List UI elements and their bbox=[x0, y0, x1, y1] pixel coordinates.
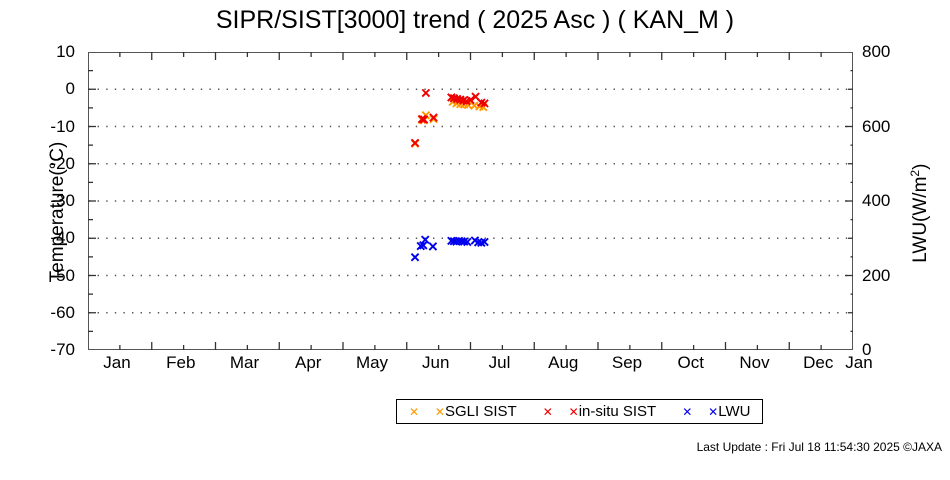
chart-title: SIPR/SIST[3000] trend ( 2025 Asc ) ( KAN… bbox=[0, 6, 950, 35]
y-axis-right-tick-label: 400 bbox=[862, 191, 890, 211]
y-axis-left-tick-label: 10 bbox=[56, 42, 75, 62]
x-axis-tick-label: Apr bbox=[295, 353, 321, 373]
x-axis-tick-label: Oct bbox=[678, 353, 704, 373]
x-axis-tick-label: Feb bbox=[166, 353, 195, 373]
x-axis-tick-label: Aug bbox=[548, 353, 578, 373]
legend-marker-icon: ✕ ✕ bbox=[409, 406, 439, 418]
legend-label: SGLI SIST bbox=[445, 403, 517, 420]
chart-legend: ✕ ✕SGLI SIST✕ ✕in-situ SIST✕ ✕LWU bbox=[396, 399, 763, 424]
footer-last-update: Last Update : Fri Jul 18 11:54:30 2025 ©… bbox=[697, 440, 942, 454]
y-axis-right-title-superscript: 2 bbox=[908, 170, 922, 177]
x-axis-tick-label: Sep bbox=[612, 353, 642, 373]
x-axis-tick-label: Jun bbox=[422, 353, 449, 373]
x-axis-tick-label: Nov bbox=[739, 353, 769, 373]
y-axis-right-tick-label: 200 bbox=[862, 266, 890, 286]
x-axis-tick-label: Dec bbox=[803, 353, 833, 373]
y-axis-left-tick-label: -40 bbox=[50, 228, 75, 248]
y-axis-left-tick-label: -50 bbox=[50, 266, 75, 286]
legend-marker-icon: ✕ ✕ bbox=[543, 406, 573, 418]
legend-entry-in-situ-sist: ✕ ✕in-situ SIST bbox=[543, 403, 657, 420]
chart-root: SIPR/SIST[3000] trend ( 2025 Asc ) ( KAN… bbox=[0, 0, 950, 480]
x-axis-tick-label: Jan bbox=[103, 353, 130, 373]
y-axis-right-tick-label: 800 bbox=[862, 42, 890, 62]
legend-marker-icon: ✕ ✕ bbox=[682, 406, 712, 418]
legend-label: LWU bbox=[718, 403, 750, 420]
y-axis-right-tick-label: 600 bbox=[862, 117, 890, 137]
y-axis-left-tick-label: -10 bbox=[50, 117, 75, 137]
y-axis-left-tick-label: -70 bbox=[50, 340, 75, 360]
plot-frame bbox=[88, 52, 853, 350]
x-axis-tick-label: Jan bbox=[845, 353, 872, 373]
y-axis-left-tick-label: -30 bbox=[50, 191, 75, 211]
x-axis-tick-label: Jul bbox=[489, 353, 511, 373]
y-axis-right-title-main: LWU(W/m bbox=[910, 177, 931, 263]
x-axis-tick-label: May bbox=[356, 353, 388, 373]
x-axis-tick-label: Mar bbox=[230, 353, 259, 373]
y-axis-left-tick-label: -20 bbox=[50, 154, 75, 174]
y-axis-left-tick-label: 0 bbox=[66, 79, 75, 99]
legend-label: in-situ SIST bbox=[579, 403, 657, 420]
y-axis-left-tick-label: -60 bbox=[50, 303, 75, 323]
legend-entry-lwu: ✕ ✕LWU bbox=[682, 403, 750, 420]
y-axis-right-title: LWU(W/m2) bbox=[908, 63, 932, 363]
y-axis-right-title-tail: ) bbox=[910, 164, 931, 170]
legend-entry-sgli-sist: ✕ ✕SGLI SIST bbox=[409, 403, 517, 420]
